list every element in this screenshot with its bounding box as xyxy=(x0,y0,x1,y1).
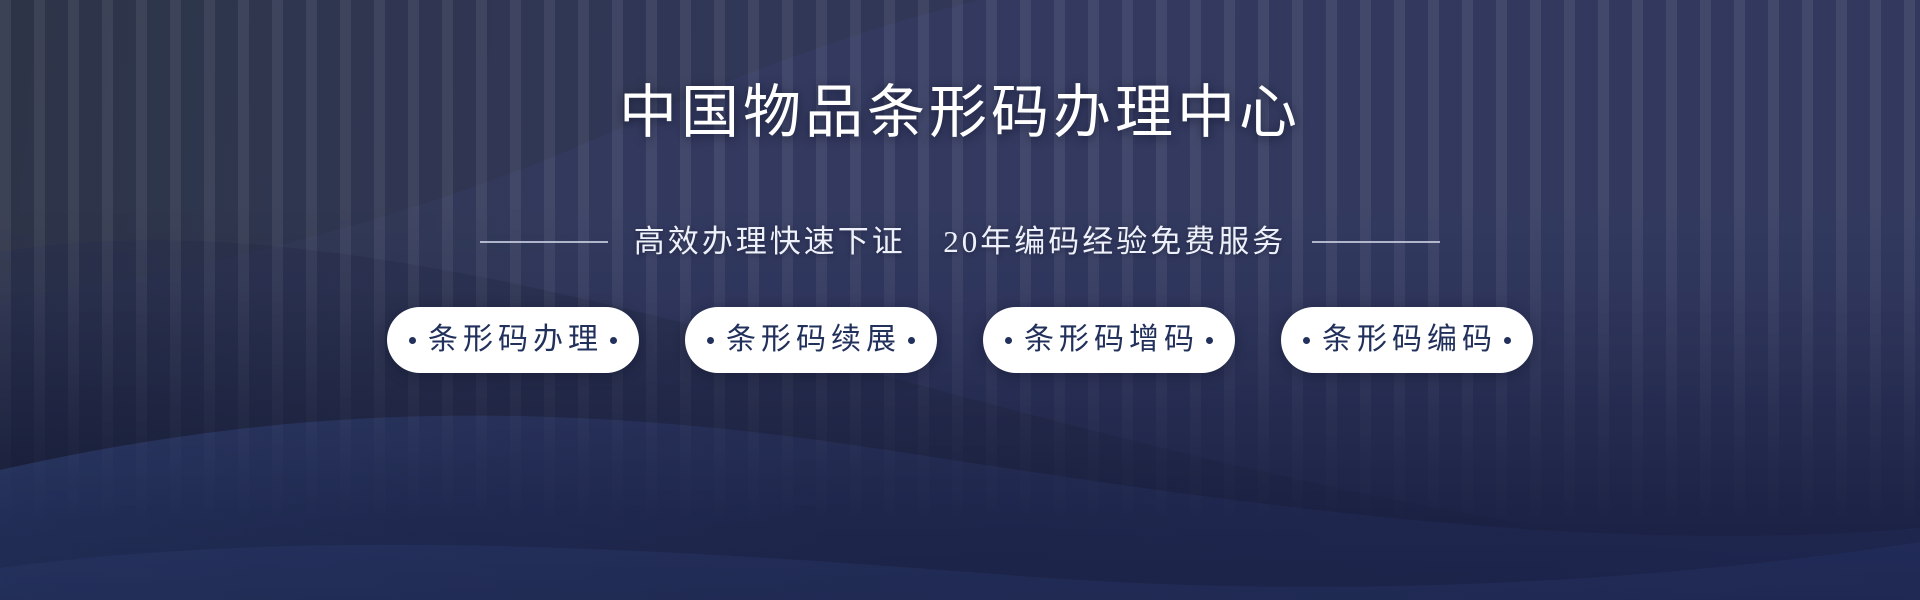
pill-label: 条形码增码 xyxy=(1019,325,1199,355)
service-pill-list: 条形码办理 条形码续展 条形码增码 条形码编码 xyxy=(387,307,1533,373)
right-rule-icon xyxy=(1312,241,1440,243)
pill-barcode-encoding[interactable]: 条形码编码 xyxy=(1281,307,1533,373)
bullet-dot-icon xyxy=(1504,337,1511,344)
bullet-dot-icon xyxy=(908,337,915,344)
pill-barcode-apply[interactable]: 条形码办理 xyxy=(387,307,639,373)
page-title: 中国物品条形码办理中心 xyxy=(619,84,1301,142)
bullet-dot-icon xyxy=(610,337,617,344)
bullet-dot-icon xyxy=(707,337,714,344)
pill-label: 条形码续展 xyxy=(721,325,901,355)
banner-content: 中国物品条形码办理中心 高效办理快速下证 20年编码经验免费服务 条形码办理 条… xyxy=(0,0,1920,600)
pill-barcode-renew[interactable]: 条形码续展 xyxy=(685,307,937,373)
left-rule-icon xyxy=(480,241,608,243)
pill-barcode-add-codes[interactable]: 条形码增码 xyxy=(983,307,1235,373)
bullet-dot-icon xyxy=(409,337,416,344)
bullet-dot-icon xyxy=(1206,337,1213,344)
pill-label: 条形码办理 xyxy=(423,325,603,355)
bullet-dot-icon xyxy=(1303,337,1310,344)
subtitle: 高效办理快速下证 20年编码经验免费服务 xyxy=(634,226,1287,257)
subtitle-row: 高效办理快速下证 20年编码经验免费服务 xyxy=(480,226,1441,257)
bullet-dot-icon xyxy=(1005,337,1012,344)
subtitle-left-text: 高效办理快速下证 xyxy=(634,224,906,259)
barcode-service-banner: 中国物品条形码办理中心 高效办理快速下证 20年编码经验免费服务 条形码办理 条… xyxy=(0,0,1920,600)
pill-label: 条形码编码 xyxy=(1317,325,1497,355)
subtitle-right-text: 20年编码经验免费服务 xyxy=(943,224,1286,259)
